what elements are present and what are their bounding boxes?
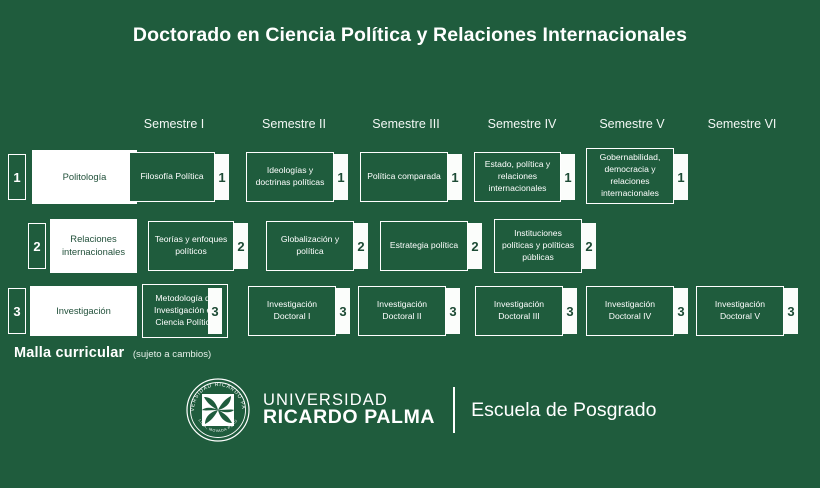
semester-header-6: Semestre VI: [696, 117, 788, 131]
semester-header-2: Semestre II: [248, 117, 340, 131]
track-row-politologia: 1 Politología Filosofía Política 1 Ideol…: [0, 146, 820, 208]
semester-header-row: Semestre I Semestre II Semestre III Seme…: [0, 117, 820, 137]
course-box-filosofia-politica[interactable]: Filosofía Política: [129, 152, 215, 202]
semester-header-4: Semestre IV: [476, 117, 568, 131]
course-box-ideologias-doctrinas[interactable]: Ideologías y doctrinas políticas: [246, 152, 334, 202]
lockup-divider: [453, 387, 455, 433]
track-number-3: 3: [8, 288, 26, 334]
track-label-relaciones-internacionales[interactable]: Relaciones internacionales: [50, 219, 137, 273]
credits-chip-investigacion-doctoral-iv: 3: [674, 288, 688, 334]
credits-chip-globalizacion-politica: 2: [354, 223, 368, 269]
credits-chip-instituciones-politicas-publicas: 2: [582, 223, 596, 269]
curriculum-caption: Malla curricular (sujeto a cambios): [14, 344, 211, 362]
course-box-globalizacion-politica[interactable]: Globalización y política: [266, 221, 354, 271]
course-box-estado-politica-ri[interactable]: Estado, política y relaciones internacio…: [474, 152, 561, 202]
university-seal: UNIVERSIDAD RICARDO PALMA LIMA, MOVADA P…: [185, 377, 251, 443]
credits-chip-ideologias-doctrinas: 1: [334, 154, 348, 200]
credits-chip-investigacion-doctoral-iii: 3: [563, 288, 577, 334]
track-number-1: 1: [8, 154, 26, 200]
course-box-investigacion-doctoral-iv[interactable]: Investigación Doctoral IV: [586, 286, 674, 336]
course-box-investigacion-doctoral-v[interactable]: Investigación Doctoral V: [696, 286, 784, 336]
credits-chip-estrategia-politica: 2: [468, 223, 482, 269]
track-label-investigacion[interactable]: Investigación: [30, 286, 137, 336]
caption-note: (sujeto a cambios): [133, 349, 211, 360]
unit-name: Escuela de Posgrado: [471, 399, 656, 422]
course-box-investigacion-doctoral-iii[interactable]: Investigación Doctoral III: [475, 286, 563, 336]
credits-chip-gobernabilidad-democracia-ri: 1: [674, 154, 688, 200]
curriculum-infographic: Doctorado en Ciencia Política y Relacion…: [0, 0, 820, 488]
track-label-politologia[interactable]: Politología: [32, 150, 137, 204]
page-title: Doctorado en Ciencia Política y Relacion…: [0, 24, 820, 47]
credits-chip-investigacion-doctoral-ii: 3: [446, 288, 460, 334]
course-box-instituciones-politicas-publicas[interactable]: Instituciones políticas y políticas públ…: [494, 219, 582, 273]
track-row-investigacion: 3 Investigación Metodología de Investiga…: [0, 284, 820, 338]
credits-chip-teorias-enfoques-politicos: 2: [234, 223, 248, 269]
course-box-investigacion-doctoral-ii[interactable]: Investigación Doctoral II: [358, 286, 446, 336]
course-box-politica-comparada[interactable]: Política comparada: [360, 152, 448, 202]
credits-chip-investigacion-doctoral-v: 3: [784, 288, 798, 334]
credits-chip-metodologia-investigacion: 3: [208, 288, 222, 334]
course-box-teorias-enfoques-politicos[interactable]: Teorías y enfoques políticos: [148, 221, 234, 271]
wordmark: UNIVERSIDAD RICARDO PALMA: [263, 392, 435, 429]
caption-main: Malla curricular: [14, 345, 124, 361]
track-number-2: 2: [28, 223, 46, 269]
credits-chip-investigacion-doctoral-i: 3: [336, 288, 350, 334]
credits-chip-filosofia-politica: 1: [215, 154, 229, 200]
credits-chip-politica-comparada: 1: [448, 154, 462, 200]
wordmark-line-2: RICARDO PALMA: [263, 408, 435, 428]
semester-header-1: Semestre I: [128, 117, 220, 131]
track-row-relaciones-internacionales: 2 Relaciones internacionales Teorías y e…: [0, 215, 820, 277]
semester-header-3: Semestre III: [360, 117, 452, 131]
course-box-estrategia-politica[interactable]: Estrategia política: [380, 221, 468, 271]
course-box-gobernabilidad-democracia-ri[interactable]: Gobernabilidad, democracia y relaciones …: [586, 148, 674, 204]
credits-chip-estado-politica-ri: 1: [561, 154, 575, 200]
brand-lockup: UNIVERSIDAD RICARDO PALMA LIMA, MOVADA P…: [185, 375, 656, 445]
semester-header-5: Semestre V: [586, 117, 678, 131]
course-box-investigacion-doctoral-i[interactable]: Investigación Doctoral I: [248, 286, 336, 336]
